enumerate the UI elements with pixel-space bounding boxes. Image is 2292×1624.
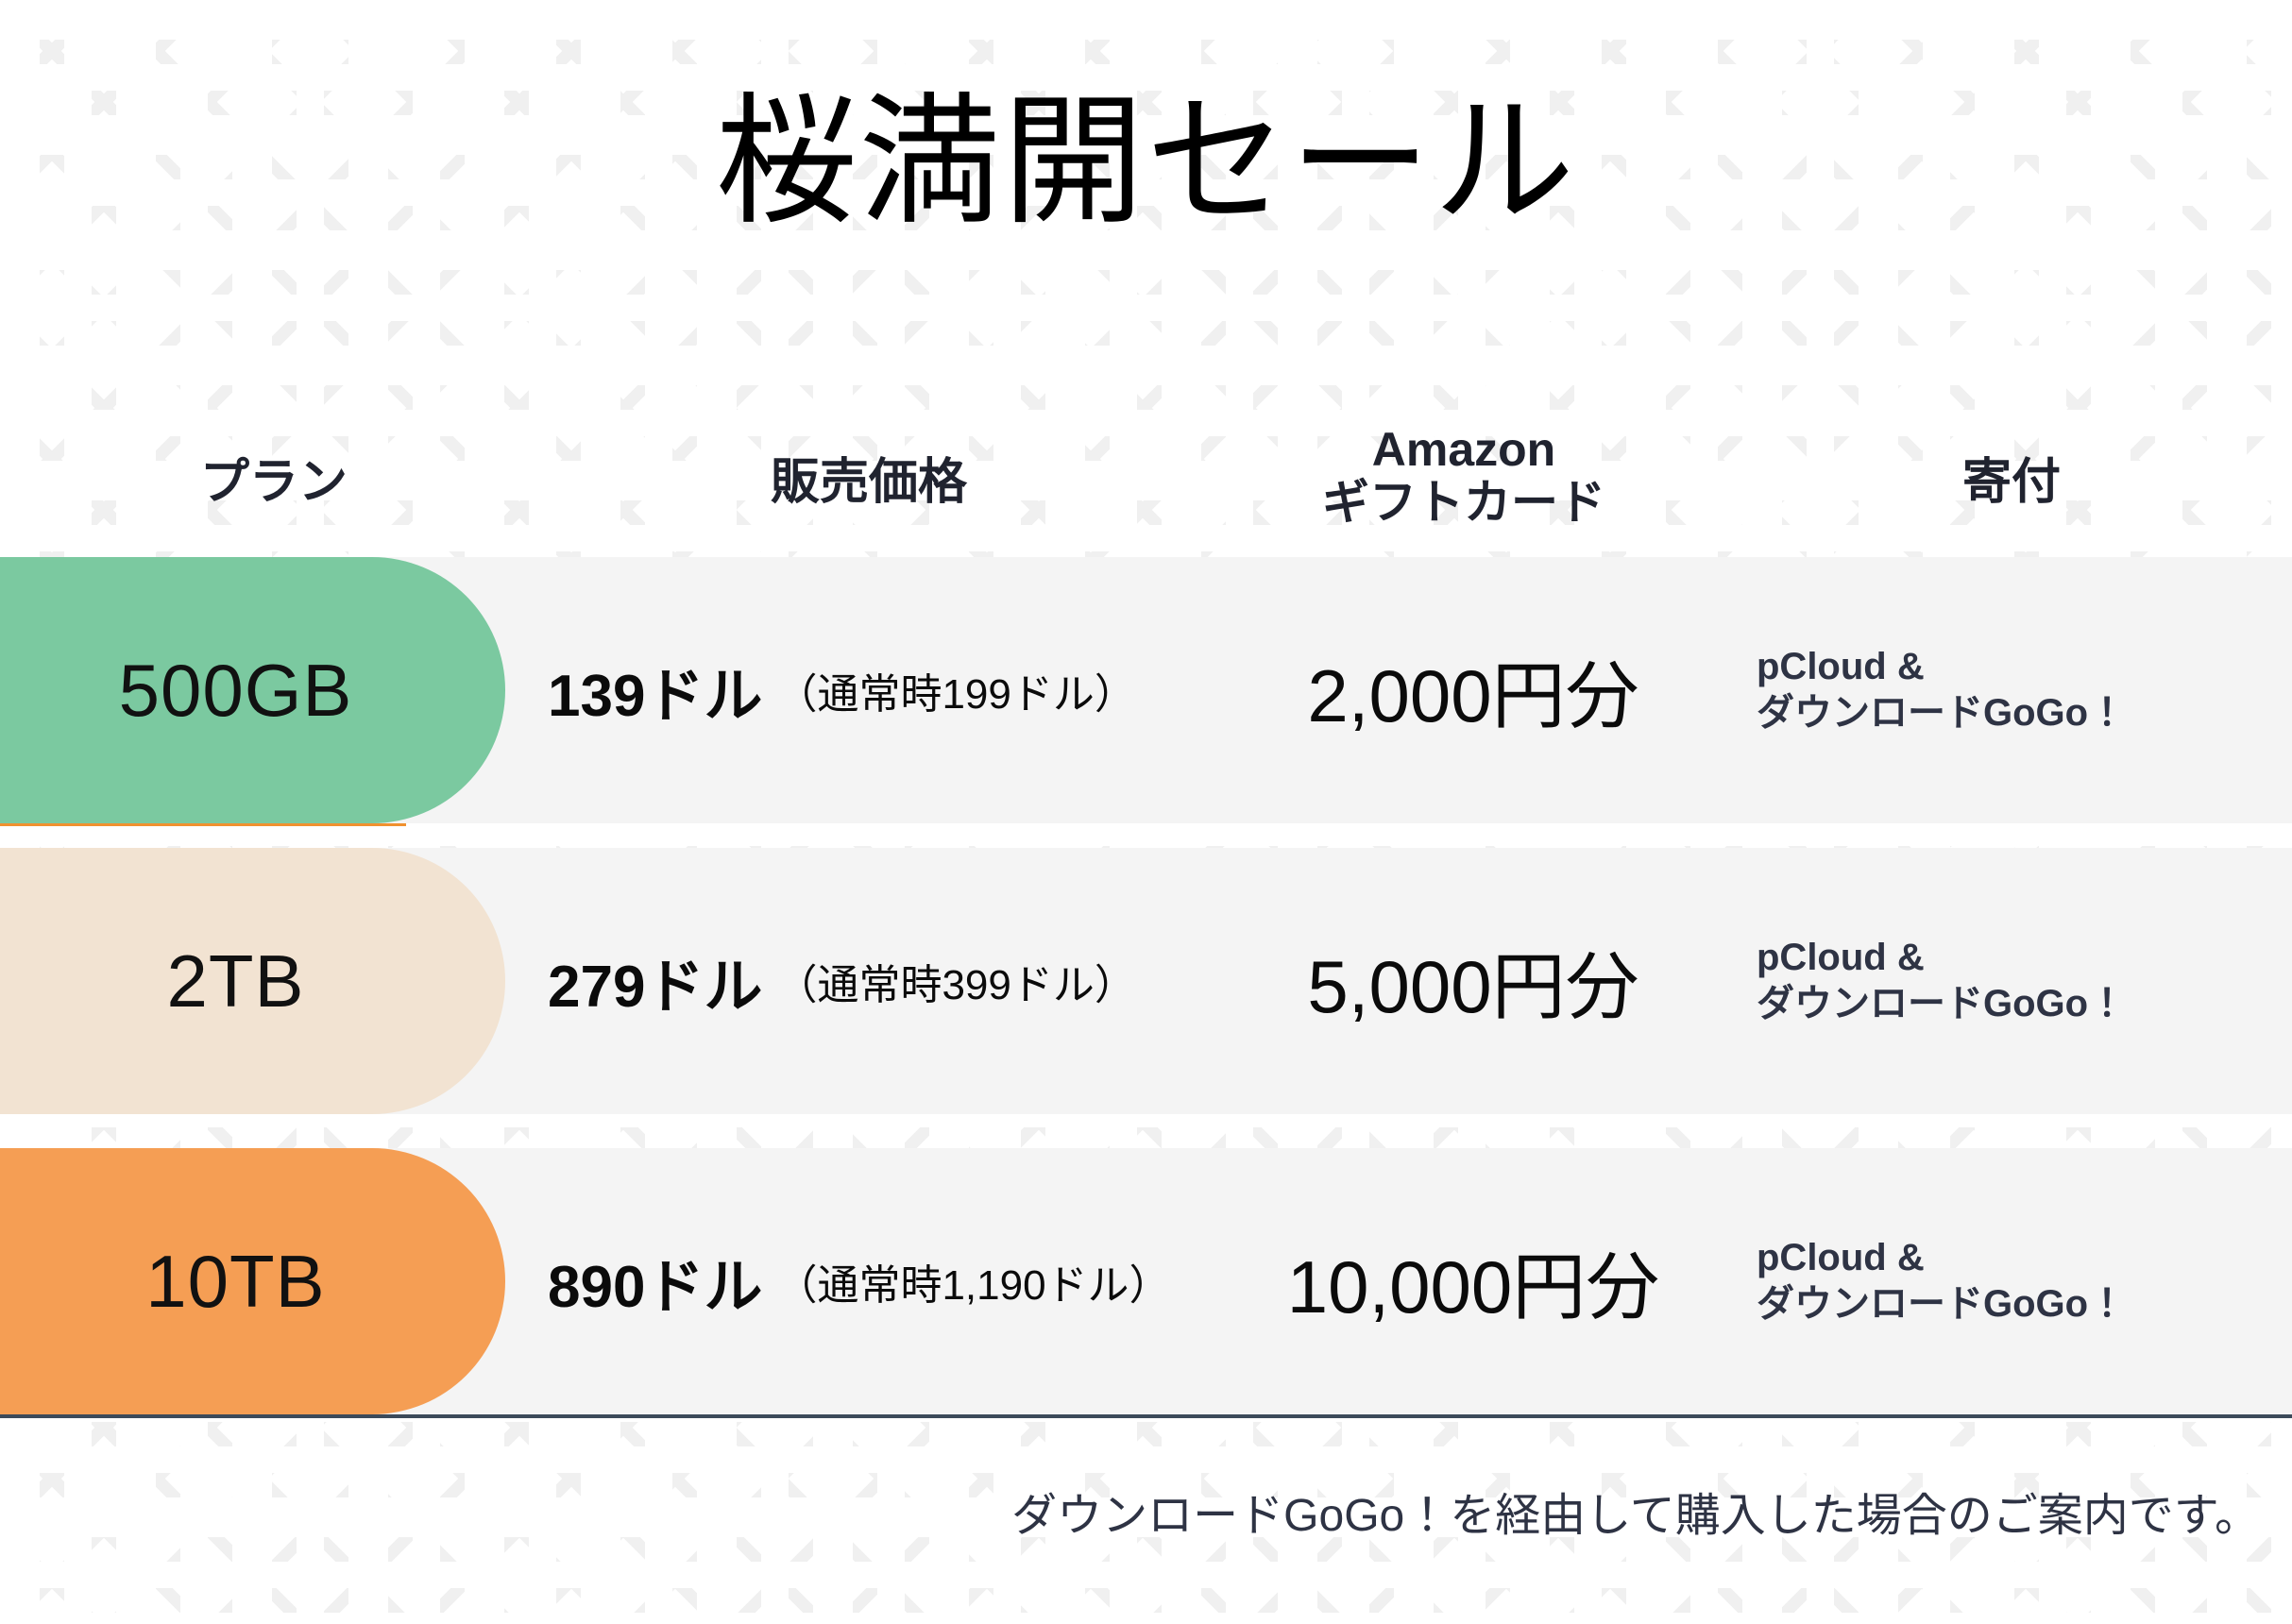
donation-line1: pCloud &	[1757, 644, 1925, 690]
plan-pill-10tb: 10TB	[0, 1148, 505, 1414]
price-cell: 139ドル （通常時199ドル）	[548, 557, 1228, 823]
table-row: 10TB 890ドル （通常時1,190ドル） 10,000円分 pCloud …	[0, 1148, 2292, 1414]
donation-cell: pCloud & ダウンロードGoGo！	[1757, 557, 2285, 823]
plan-label: 10TB	[145, 1239, 325, 1325]
table-row: 2TB 279ドル （通常時399ドル） 5,000円分 pCloud & ダウ…	[0, 848, 2292, 1114]
table-bottom-rule	[0, 1414, 2292, 1418]
donation-line1: pCloud &	[1757, 935, 1925, 981]
plan-label: 2TB	[166, 939, 304, 1024]
column-header-amazon-line2: ギフトカード	[1218, 476, 1709, 529]
donation-cell: pCloud & ダウンロードGoGo！	[1757, 1148, 2285, 1414]
amazon-gift-cell: 5,000円分	[1228, 848, 1719, 1114]
table-header-row: プラン 販売価格 Amazon ギフトカード 寄付	[0, 415, 2292, 548]
price-sale: 279ドル	[548, 939, 762, 1023]
price-sale: 139ドル	[548, 648, 762, 733]
donation-cell: pCloud & ダウンロードGoGo！	[1757, 848, 2285, 1114]
price-sale: 890ドル	[548, 1239, 762, 1324]
plan-label: 500GB	[119, 648, 353, 734]
column-header-donation: 寄付	[1747, 455, 2276, 510]
price-cell: 890ドル （通常時1,190ドル）	[548, 1148, 1228, 1414]
page-title: 桜満開セール	[0, 91, 2292, 232]
column-header-price: 販売価格	[538, 455, 1199, 510]
sale-pricing-table: 桜満開セール プラン 販売価格 Amazon ギフトカード 寄付 500GB 1…	[0, 0, 2292, 1624]
plan-pill-500gb: 500GB	[0, 557, 505, 823]
donation-line2: ダウンロードGoGo！	[1757, 1281, 2126, 1328]
donation-line2: ダウンロードGoGo！	[1757, 981, 2126, 1027]
amazon-gift-cell: 10,000円分	[1228, 1148, 1719, 1414]
plan-pill-2tb: 2TB	[0, 848, 505, 1114]
price-regular-note: （通常時1,190ドル）	[775, 1251, 1170, 1311]
price-regular-note: （通常時199ドル）	[775, 660, 1135, 720]
column-header-amazon-line1: Amazon	[1218, 423, 1709, 476]
donation-line2: ダウンロードGoGo！	[1757, 690, 2126, 736]
amazon-gift-amount: 10,000円分	[1287, 1228, 1660, 1334]
column-header-amazon-gift-card: Amazon ギフトカード	[1218, 423, 1709, 529]
column-header-plan: プラン	[38, 455, 510, 510]
pill-underline	[0, 823, 406, 826]
price-regular-note: （通常時399ドル）	[775, 951, 1135, 1011]
donation-line1: pCloud &	[1757, 1235, 1925, 1281]
amazon-gift-amount: 2,000円分	[1307, 637, 1638, 743]
amazon-gift-amount: 5,000円分	[1307, 928, 1638, 1034]
price-cell: 279ドル （通常時399ドル）	[548, 848, 1228, 1114]
footer-note: ダウンロードGoGo！を経由して購入した場合のご案内です。	[0, 1478, 2260, 1544]
table-row: 500GB 139ドル （通常時199ドル） 2,000円分 pCloud & …	[0, 557, 2292, 823]
amazon-gift-cell: 2,000円分	[1228, 557, 1719, 823]
